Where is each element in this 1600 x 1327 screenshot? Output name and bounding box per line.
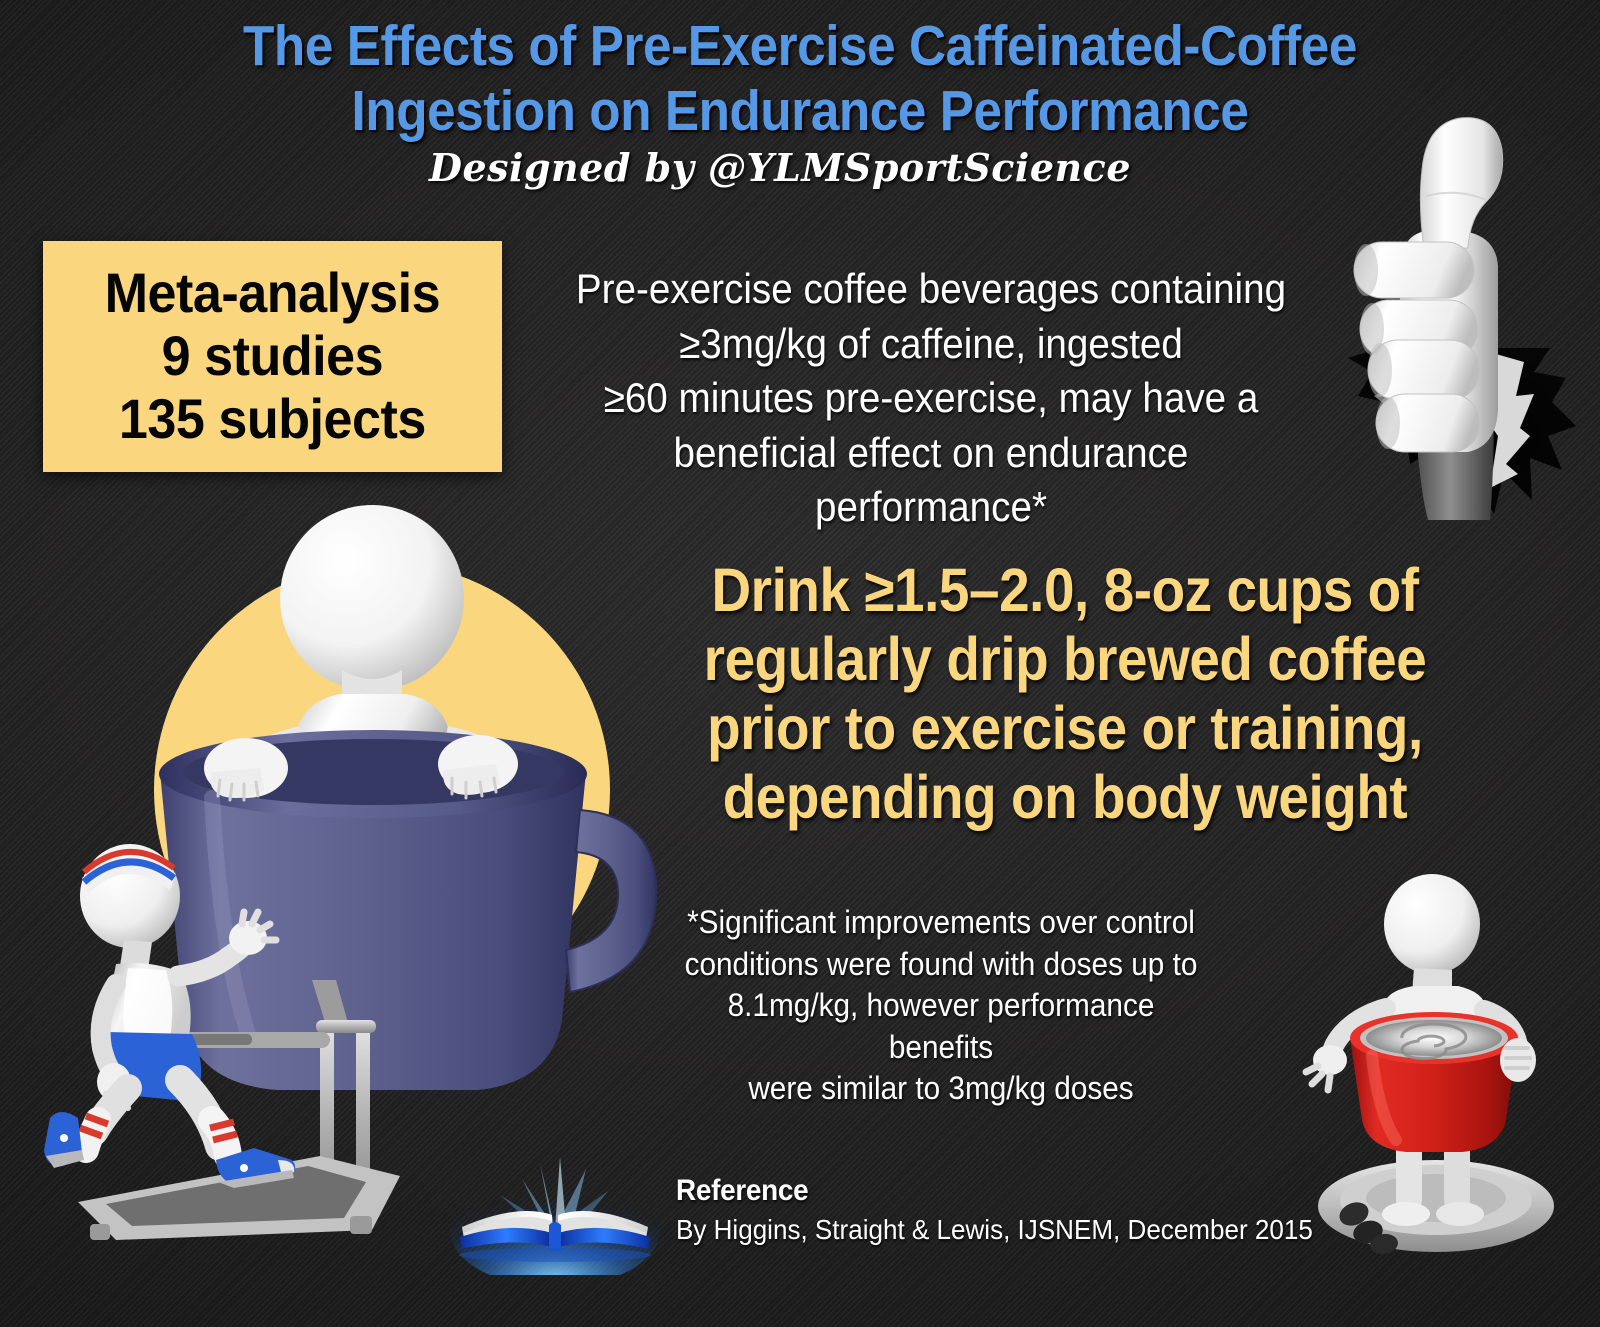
thumbs-up-icon [1318, 96, 1600, 526]
meta-analysis-badge: Meta-analysis 9 studies 135 subjects [43, 241, 502, 472]
open-book-icon [448, 1145, 663, 1275]
intro-statement: Pre-exercise coffee beverages containing… [568, 262, 1295, 535]
reference-citation: By Higgins, Straight & Lewis, IJSNEM, De… [676, 1214, 1271, 1246]
reference-heading: Reference [676, 1174, 1271, 1208]
page-title: The Effects of Pre-Exercise Caffeinated-… [188, 14, 1412, 144]
footnote-text: *Significant improvements over control c… [680, 902, 1203, 1110]
main-recommendation: Drink ≥1.5–2.0, 8-oz cups of regularly d… [696, 556, 1434, 832]
figure-holding-red-mug-graphic [1272, 858, 1600, 1268]
designer-credit: Designed by @YLMSportScience [200, 145, 1360, 190]
reference-block: Reference By Higgins, Straight & Lewis, … [676, 1174, 1316, 1246]
meta-analysis-text: Meta-analysis 9 studies 135 subjects [105, 262, 441, 450]
treadmill-runner-graphic [20, 820, 420, 1270]
infographic-canvas: The Effects of Pre-Exercise Caffeinated-… [0, 0, 1600, 1327]
